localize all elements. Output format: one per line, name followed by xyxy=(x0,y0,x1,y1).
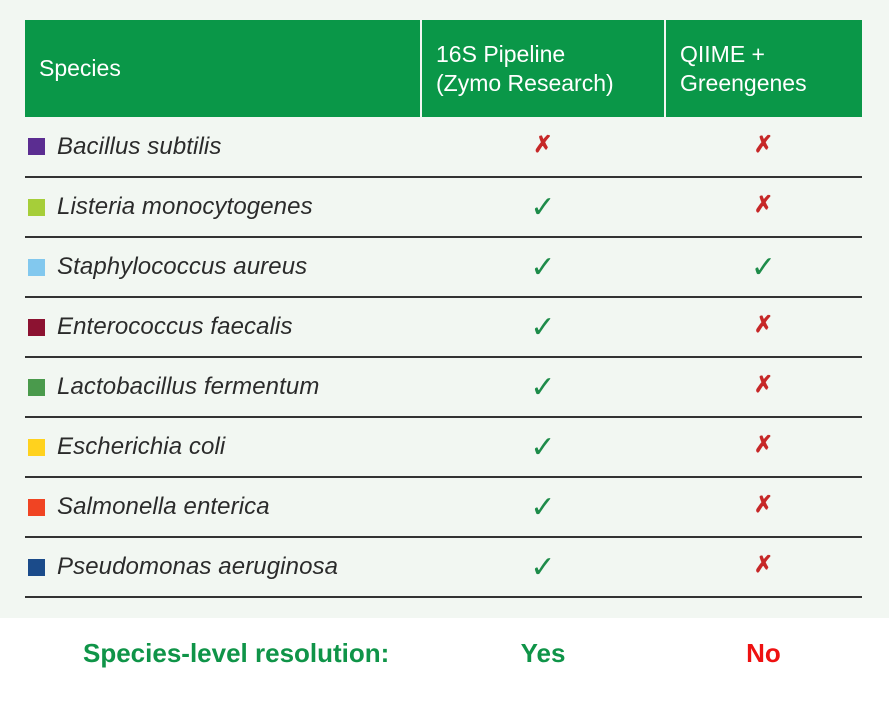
check-icon: ✓ xyxy=(530,253,555,283)
column-header-16s-pipeline: 16S Pipeline (Zymo Research) xyxy=(421,20,665,117)
species-name-label: Lactobacillus fermentum xyxy=(57,373,319,401)
cross-icon: ✗ xyxy=(754,433,773,456)
table-row: Bacillus subtilis✗✗ xyxy=(25,117,862,177)
cell-16s-pipeline: ✓ xyxy=(421,477,665,537)
species-color-swatch-icon xyxy=(28,138,45,155)
table-row: Staphylococcus aureus✓✓ xyxy=(25,237,862,297)
cross-icon: ✗ xyxy=(533,133,552,156)
species-cell-content: Enterococcus faecalis xyxy=(28,313,421,341)
table-container: Species 16S Pipeline (Zymo Research) QII… xyxy=(25,20,862,598)
summary-qiime-greengenes-value: No xyxy=(665,638,862,669)
species-color-swatch-icon xyxy=(28,559,45,576)
column-header-16s-pipeline-line1: 16S Pipeline xyxy=(436,41,565,67)
species-cell-content: Pseudomonas aeruginosa xyxy=(28,553,421,581)
species-cell-content: Salmonella enterica xyxy=(28,493,421,521)
species-cell: Salmonella enterica xyxy=(25,477,421,537)
check-icon: ✓ xyxy=(530,433,555,463)
cell-qiime-greengenes: ✗ xyxy=(665,477,862,537)
column-header-qiime-greengenes-line1: QIIME + xyxy=(680,41,765,67)
check-icon: ✓ xyxy=(751,253,776,283)
species-name-label: Escherichia coli xyxy=(57,433,225,461)
comparison-table-figure: Species 16S Pipeline (Zymo Research) QII… xyxy=(0,0,889,702)
cell-qiime-greengenes: ✗ xyxy=(665,177,862,237)
species-cell: Escherichia coli xyxy=(25,417,421,477)
table-row: Pseudomonas aeruginosa✓✗ xyxy=(25,537,862,597)
species-name-label: Listeria monocytogenes xyxy=(57,193,313,221)
check-icon: ✓ xyxy=(530,313,555,343)
species-cell-content: Bacillus subtilis xyxy=(28,133,421,161)
check-icon: ✓ xyxy=(530,373,555,403)
check-icon: ✓ xyxy=(530,553,555,583)
table-row: Escherichia coli✓✗ xyxy=(25,417,862,477)
species-cell: Enterococcus faecalis xyxy=(25,297,421,357)
summary-row: Species-level resolution: Yes No xyxy=(25,629,862,677)
cross-icon: ✗ xyxy=(754,193,773,216)
species-name-label: Staphylococcus aureus xyxy=(57,253,307,281)
species-color-swatch-icon xyxy=(28,499,45,516)
species-color-swatch-icon xyxy=(28,199,45,216)
species-cell: Staphylococcus aureus xyxy=(25,237,421,297)
species-color-swatch-icon xyxy=(28,379,45,396)
cell-qiime-greengenes: ✓ xyxy=(665,237,862,297)
cell-16s-pipeline: ✓ xyxy=(421,297,665,357)
cell-16s-pipeline: ✓ xyxy=(421,417,665,477)
column-header-species-label: Species xyxy=(39,55,121,81)
summary-label: Species-level resolution: xyxy=(25,638,421,669)
column-header-16s-pipeline-line2: (Zymo Research) xyxy=(436,70,614,96)
cell-qiime-greengenes: ✗ xyxy=(665,297,862,357)
cell-qiime-greengenes: ✗ xyxy=(665,417,862,477)
cross-icon: ✗ xyxy=(754,313,773,336)
species-color-swatch-icon xyxy=(28,259,45,276)
cell-16s-pipeline: ✓ xyxy=(421,357,665,417)
table-header-row: Species 16S Pipeline (Zymo Research) QII… xyxy=(25,20,862,117)
column-header-species: Species xyxy=(25,20,421,117)
species-cell: Listeria monocytogenes xyxy=(25,177,421,237)
cross-icon: ✗ xyxy=(754,553,773,576)
cross-icon: ✗ xyxy=(754,493,773,516)
table-row: Enterococcus faecalis✓✗ xyxy=(25,297,862,357)
cell-16s-pipeline: ✗ xyxy=(421,117,665,177)
table-row: Salmonella enterica✓✗ xyxy=(25,477,862,537)
species-name-label: Enterococcus faecalis xyxy=(57,313,293,341)
species-name-label: Pseudomonas aeruginosa xyxy=(57,553,338,581)
cell-qiime-greengenes: ✗ xyxy=(665,117,862,177)
table-body: Bacillus subtilis✗✗Listeria monocytogene… xyxy=(25,117,862,597)
species-cell: Bacillus subtilis xyxy=(25,117,421,177)
species-cell-content: Escherichia coli xyxy=(28,433,421,461)
column-header-qiime-greengenes-line2: Greengenes xyxy=(680,70,807,96)
check-icon: ✓ xyxy=(530,493,555,523)
species-cell-content: Staphylococcus aureus xyxy=(28,253,421,281)
cell-16s-pipeline: ✓ xyxy=(421,237,665,297)
summary-16s-pipeline-value: Yes xyxy=(421,638,665,669)
species-cell: Pseudomonas aeruginosa xyxy=(25,537,421,597)
cell-16s-pipeline: ✓ xyxy=(421,177,665,237)
cross-icon: ✗ xyxy=(754,133,773,156)
cell-qiime-greengenes: ✗ xyxy=(665,357,862,417)
column-header-qiime-greengenes: QIIME + Greengenes xyxy=(665,20,862,117)
table-row: Lactobacillus fermentum✓✗ xyxy=(25,357,862,417)
species-cell: Lactobacillus fermentum xyxy=(25,357,421,417)
cell-16s-pipeline: ✓ xyxy=(421,537,665,597)
species-name-label: Salmonella enterica xyxy=(57,493,270,521)
species-name-label: Bacillus subtilis xyxy=(57,133,221,161)
cross-icon: ✗ xyxy=(754,373,773,396)
cell-qiime-greengenes: ✗ xyxy=(665,537,862,597)
species-cell-content: Lactobacillus fermentum xyxy=(28,373,421,401)
species-comparison-table: Species 16S Pipeline (Zymo Research) QII… xyxy=(25,20,862,598)
table-header: Species 16S Pipeline (Zymo Research) QII… xyxy=(25,20,862,117)
species-color-swatch-icon xyxy=(28,319,45,336)
table-row: Listeria monocytogenes✓✗ xyxy=(25,177,862,237)
species-color-swatch-icon xyxy=(28,439,45,456)
species-cell-content: Listeria monocytogenes xyxy=(28,193,421,221)
check-icon: ✓ xyxy=(530,193,555,223)
